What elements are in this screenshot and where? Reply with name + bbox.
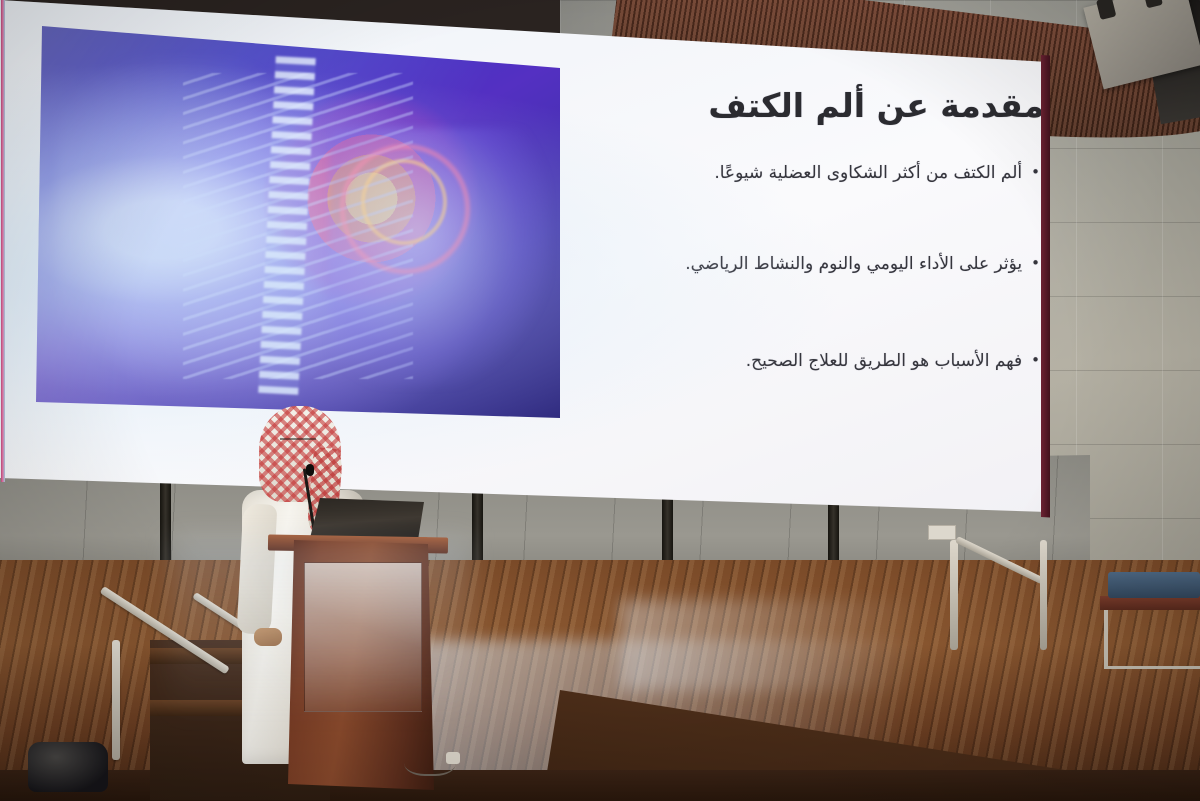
screen-frame-left: [1, 0, 5, 482]
bullet-marker-icon: •: [1031, 251, 1040, 275]
microphone-icon: [306, 464, 314, 476]
screen-frame-right: [1041, 55, 1050, 518]
presenter-glasses-icon: [280, 438, 316, 448]
presentation-scene: مقدمة عن ألم الكتف • ألم الكتف من أكثر ا…: [0, 0, 1200, 801]
side-table-blue-item: [1108, 572, 1200, 598]
floor-bag: [28, 742, 108, 792]
slide-bullet-text: فهم الأسباب هو الطريق للعلاج الصحيح.: [570, 348, 1022, 375]
stair-handrail-post: [112, 640, 120, 760]
slide-bullet-item: • ألم الكتف من أكثر الشكاوى العضلية شيوع…: [570, 160, 1040, 187]
slide-bullet-text: ألم الكتف من أكثر الشكاوى العضلية شيوعًا…: [570, 160, 1022, 187]
floor-reflection: [620, 600, 1040, 690]
shoulder-pain-xray-illustration: [36, 26, 560, 418]
stair-handrail-post: [1040, 540, 1047, 650]
wall-socket-plate: [928, 525, 956, 540]
speaker-bracket-icon: [1096, 0, 1116, 20]
slide-title: مقدمة عن ألم الكتف: [574, 86, 1044, 125]
slide-bullet-item: • فهم الأسباب هو الطريق للعلاج الصحيح.: [570, 348, 1040, 375]
slide-bullet-list: • ألم الكتف من أكثر الشكاوى العضلية شيوع…: [570, 160, 1040, 376]
stair-handrail-post: [950, 540, 958, 650]
speaker-bracket-icon: [1143, 0, 1163, 8]
slide-bullet-item: • يؤثر على الأداء اليومي والنوم والنشاط …: [570, 251, 1040, 278]
laptop[interactable]: [310, 498, 424, 540]
presenter-arm: [237, 503, 278, 635]
cable-plug: [446, 752, 460, 764]
podium-front-panel: [304, 562, 422, 712]
slide-bullet-text: يؤثر على الأداء اليومي والنوم والنشاط ال…: [630, 251, 1022, 278]
projection-screen: مقدمة عن ألم الكتف • ألم الكتف من أكثر ا…: [0, 0, 1062, 512]
bullet-marker-icon: •: [1031, 160, 1040, 184]
side-table: [1100, 596, 1200, 610]
presenter-hand: [254, 628, 282, 646]
side-table-legs: [1104, 608, 1200, 669]
bullet-marker-icon: •: [1031, 348, 1040, 372]
pain-glow-ring-inner: [361, 159, 447, 245]
